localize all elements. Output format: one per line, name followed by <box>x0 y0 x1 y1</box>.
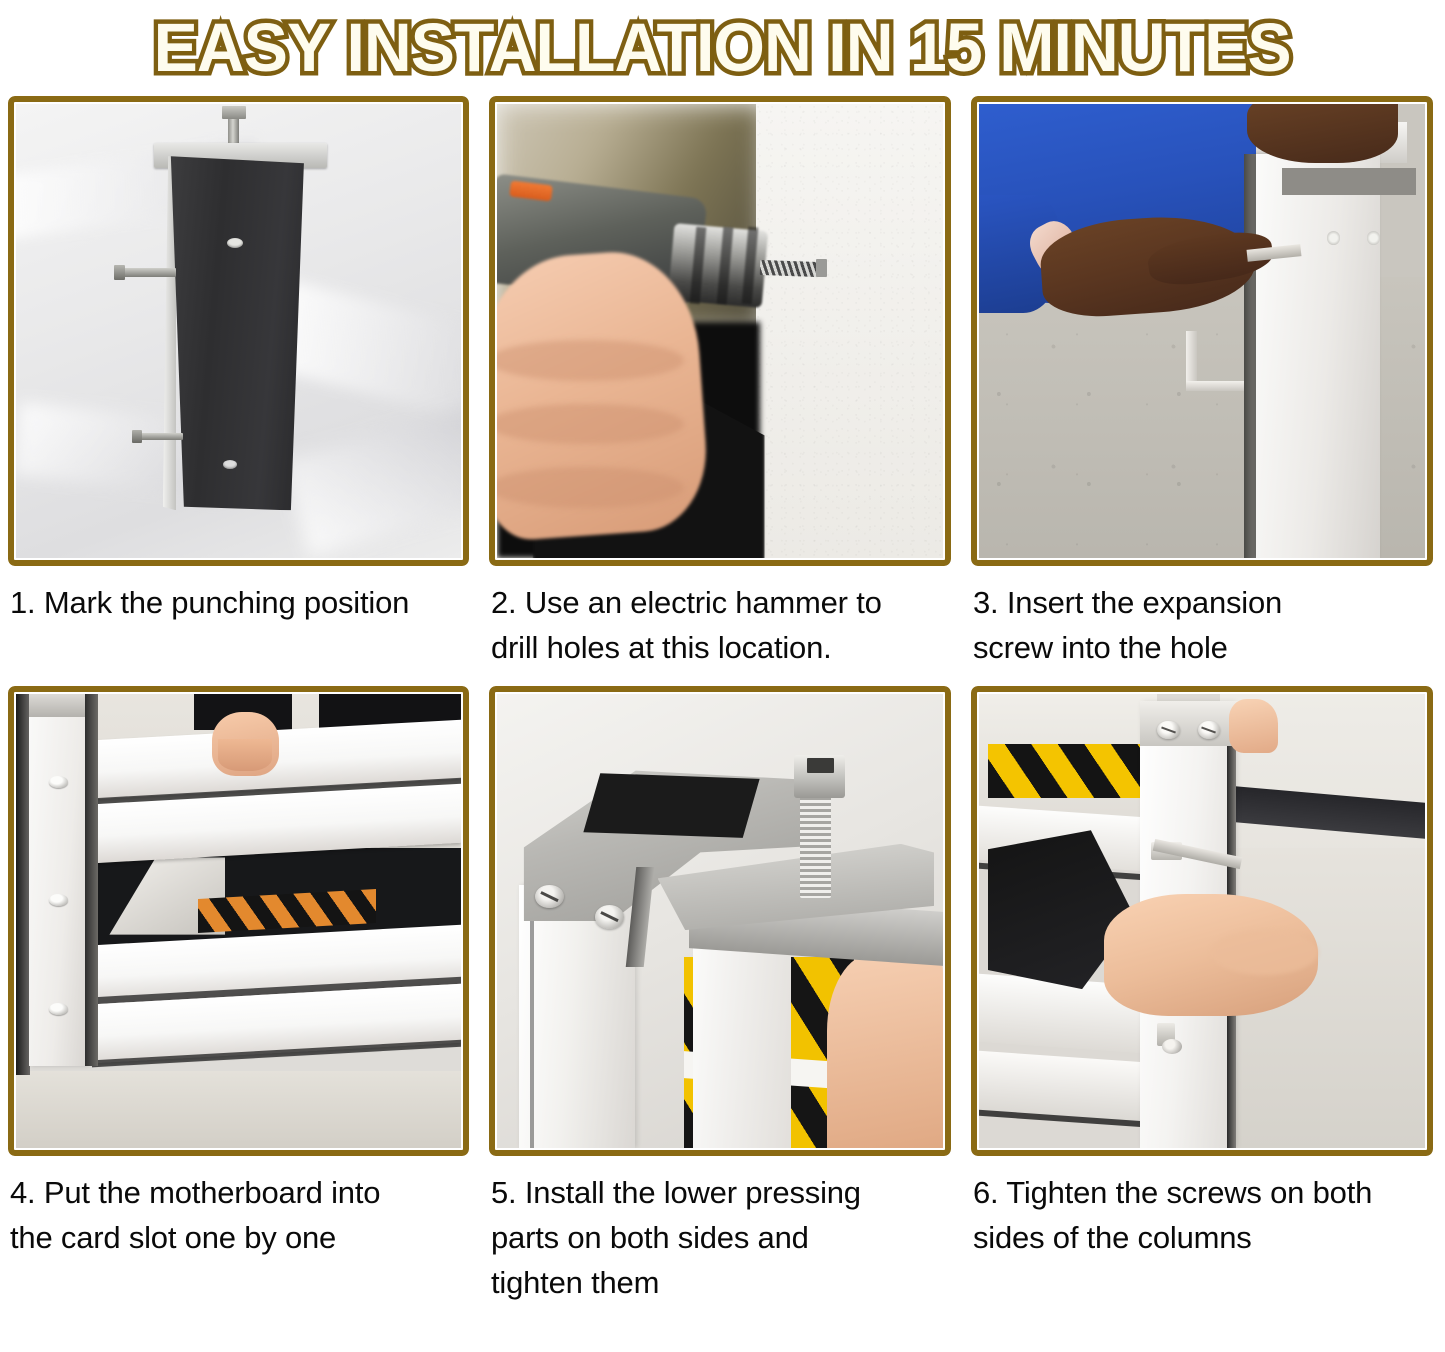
step-1: 1. Mark the punching position <box>0 96 481 686</box>
photo-expansion-screw <box>979 104 1425 558</box>
drill-bit <box>760 260 818 277</box>
step-1-photo-frame <box>8 96 469 566</box>
fingers <box>827 953 943 1148</box>
hex-socket <box>807 758 834 774</box>
bolt-head <box>114 265 125 280</box>
card-slot-groove <box>85 694 98 1066</box>
column-screw <box>49 776 68 788</box>
step-2-photo-frame <box>489 96 951 566</box>
step-5-photo-frame <box>489 686 951 1156</box>
step-4-photo-frame <box>8 686 469 1156</box>
step-5-caption: 5. Install the lower pressing parts on b… <box>481 1156 963 1305</box>
caption-line: screw into the hole <box>973 625 1435 670</box>
installation-steps-grid: 1. Mark the punching position <box>0 96 1445 1305</box>
protruding-bolt-lower <box>132 433 183 440</box>
caption-line: 3. Insert the expansion <box>973 580 1435 625</box>
column-screw <box>49 894 68 906</box>
caption-line: 4. Put the motherboard into <box>10 1170 471 1215</box>
column-groove <box>530 885 534 1148</box>
caption-line: tighten them <box>491 1260 953 1305</box>
step-6-caption: 6. Tighten the screws on both sides of t… <box>963 1156 1445 1276</box>
column-cap <box>29 694 87 717</box>
photo-hammer-drill <box>497 104 943 558</box>
caption-line: 6. Tighten the screws on both <box>973 1170 1435 1215</box>
template-body <box>165 156 310 510</box>
step-3-photo-frame <box>971 96 1433 566</box>
aluminum-column <box>1256 154 1381 558</box>
caption-line: drill holes at this location. <box>491 625 953 670</box>
caption-line: 1. Mark the punching position <box>10 580 471 625</box>
photo-pressing-bracket <box>497 694 943 1148</box>
protruding-bolt-upper <box>114 268 176 277</box>
step-4: 4. Put the motherboard into the card slo… <box>0 686 481 1305</box>
photo-tighten-screws <box>979 694 1425 1148</box>
photo-card-slot <box>16 694 461 1148</box>
photo-marking-template <box>16 104 461 558</box>
step-2-caption: 2. Use an electric hammer to drill holes… <box>481 566 963 686</box>
caption-line: sides of the columns <box>973 1215 1435 1260</box>
step-6-photo-frame <box>971 686 1433 1156</box>
caption-line: the card slot one by one <box>10 1215 471 1260</box>
fingers <box>218 739 271 771</box>
drill-bit-tip <box>816 259 827 276</box>
step-3-caption: 3. Insert the expansion screw into the h… <box>963 566 1445 686</box>
phillips-screw <box>1157 721 1179 739</box>
header-banner: EASY INSTALLATION IN 15 MINUTES <box>0 0 1445 96</box>
page-title: EASY INSTALLATION IN 15 MINUTES <box>154 13 1291 83</box>
top-stud-cap <box>222 106 246 119</box>
step-5: 5. Install the lower pressing parts on b… <box>481 686 963 1305</box>
finger-crease <box>497 340 684 381</box>
column-cap-plate <box>1140 701 1243 746</box>
cloth-fold <box>282 405 461 556</box>
step-2: 2. Use an electric hammer to drill holes… <box>481 96 963 686</box>
second-hand <box>1229 699 1278 753</box>
column-screw <box>49 1003 68 1015</box>
step-1-caption: 1. Mark the punching position <box>0 566 481 686</box>
caption-line: 5. Install the lower pressing <box>491 1170 953 1215</box>
wall-surface <box>756 104 943 558</box>
column-cap-plate <box>1282 168 1416 195</box>
step-4-caption: 4. Put the motherboard into the card slo… <box>0 1156 481 1276</box>
step-3: 3. Insert the expansion screw into the h… <box>963 96 1445 686</box>
caption-line: 2. Use an electric hammer to <box>491 580 953 625</box>
column-outer-edge <box>16 694 30 1075</box>
bracket-slot <box>583 773 759 838</box>
hex-bolt-shaft <box>800 794 831 898</box>
step-6: 6. Tighten the screws on both sides of t… <box>963 686 1445 1305</box>
phillips-screw <box>595 905 624 929</box>
column-screw <box>1327 231 1340 245</box>
floor <box>16 1071 461 1148</box>
column-front-face <box>693 930 791 1148</box>
bolt-head <box>132 430 142 443</box>
phillips-screw <box>535 885 564 909</box>
column-screw <box>1367 231 1380 245</box>
caption-line: parts on both sides and <box>491 1215 953 1260</box>
allen-key-horizontal-arm <box>1186 381 1244 391</box>
second-hand <box>1247 104 1399 163</box>
hazard-stripe-panel <box>988 744 1140 798</box>
